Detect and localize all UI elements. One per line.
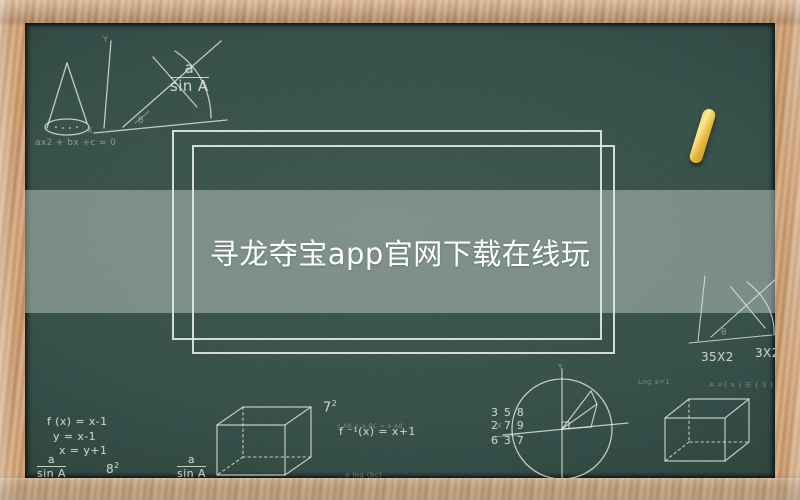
page-title: 寻龙夺宝app官网下载在线玩	[210, 231, 591, 273]
chalk-quadratic-equation: ax2 + bx +c = 0	[35, 138, 116, 148]
chalk-function-line-1: f (x) = x-1	[47, 415, 108, 430]
chalk-axis-label-y-topleft: Y	[103, 35, 108, 44]
chalk-eight-squared: 82	[106, 461, 120, 476]
chalk-seven-squared: 72	[323, 399, 337, 415]
blackboard-banner: a sin A ax2 + bx +c = 0 Y X θ θ f (x) = …	[0, 0, 800, 500]
chalk-matrix-row-1: 3 5 8	[491, 406, 525, 419]
wireframe-cube-left	[217, 407, 311, 475]
chalkboard-surface: a sin A ax2 + bx +c = 0 Y X θ θ f (x) = …	[25, 23, 775, 478]
chalk-fraction-a-sinA-bl1: a sin A	[37, 454, 66, 478]
circle-axes-diagram	[503, 369, 628, 478]
matrix-brackets	[492, 435, 520, 437]
chalk-log-label: Log a=1	[638, 378, 670, 386]
caption-overlay-band: 寻龙夺宝app官网下载在线玩	[25, 190, 775, 313]
chalk-fraction-a-sinA-bl2: a sin A	[177, 454, 206, 478]
angle-axes-diagram	[94, 41, 227, 133]
frame-bottom-ledge	[0, 478, 800, 500]
chalk-faint-equation: c AB + a BC = a AB	[337, 423, 403, 430]
chalk-matrix: 3 5 8 2 7 9 6 3 7	[491, 406, 525, 448]
yellow-chalk-stick-icon	[688, 107, 717, 164]
chalk-log-small: a log (bc)	[345, 471, 382, 478]
chalk-function-line-2: y = x-1	[47, 430, 108, 445]
chalk-fraction-a-sinA-topleft: a sin A	[170, 61, 209, 95]
chalk-label-35x2: 35X2	[701, 350, 734, 364]
cone-diagram	[45, 63, 89, 135]
chalk-matrix-row-2: 2 7 9	[491, 419, 525, 432]
chalk-angle-theta-right: θ	[721, 328, 727, 338]
chalk-label-3x2: 3X2	[755, 346, 775, 360]
chalk-function-line-3: x = y+1	[47, 444, 108, 459]
chalk-function-block: f (x) = x-1 y = x-1 x = y+1	[47, 415, 108, 459]
chalk-axis-label-y-circle: Y	[558, 363, 563, 371]
chalk-axis-label-x-topleft: X	[87, 126, 93, 135]
wireframe-cube-right	[665, 399, 749, 461]
chalk-set-notation: A ={ x } ∈ { 3 } ∈ ( y )	[709, 381, 775, 389]
chalk-axis-label-x-circle: X	[497, 422, 502, 430]
chalk-angle-theta-topleft: θ	[138, 116, 144, 126]
chalk-inverse-function: f ⁻¹(x) = x+1	[339, 425, 416, 438]
chalk-matrix-row-3: 6 3 7	[491, 432, 525, 447]
